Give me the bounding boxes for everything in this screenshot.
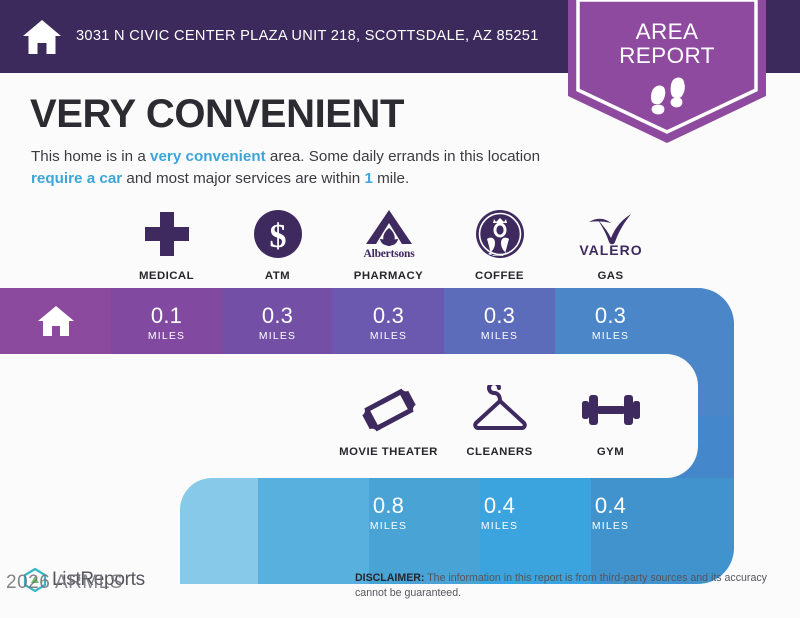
amenity-row-top: MEDICAL $ ATM Albertsons PHARMACY (111, 206, 666, 282)
amenity-pharmacy: Albertsons PHARMACY (333, 206, 444, 282)
starbucks-icon (464, 206, 536, 261)
medical-cross-icon (131, 206, 203, 261)
movie-ticket-icon (353, 382, 425, 437)
home-icon (22, 17, 62, 57)
summary-highlight-3: 1 (364, 170, 372, 187)
amenity-label: GYM (597, 446, 624, 458)
valero-icon: VALERO (575, 206, 647, 261)
property-address: 3031 N CIVIC CENTER PLAZA UNIT 218, SCOT… (76, 27, 539, 47)
hanger-icon (464, 382, 536, 437)
svg-text:$: $ (269, 218, 286, 255)
summary-highlight-1: very convenient (150, 148, 266, 165)
ribbon-top-segments (0, 288, 734, 354)
disclaimer-label: DISCLAIMER: (355, 572, 424, 584)
amenity-label: PHARMACY (354, 270, 423, 282)
summary-highlight-2: require a car (31, 170, 122, 187)
albertsons-icon: Albertsons (353, 206, 425, 261)
amenity-gym: GYM (555, 382, 666, 458)
summary-part-3: and most major services are within (122, 170, 364, 187)
summary-text: This home is in a very convenient area. … (31, 146, 571, 189)
amenity-movie-theater: MOVIE THEATER (333, 382, 444, 458)
amenity-coffee: COFFEE (444, 206, 555, 282)
amenity-label: MEDICAL (139, 270, 194, 282)
summary-part-4: mile. (373, 170, 409, 187)
summary-part-1: This home is in a (31, 148, 150, 165)
svg-text:Albertsons: Albertsons (363, 248, 415, 260)
amenity-label: CLEANERS (466, 446, 532, 458)
amenity-atm: $ ATM (222, 206, 333, 282)
area-report-badge: AREA REPORT (568, 0, 766, 143)
svg-text:VALERO: VALERO (579, 242, 642, 258)
amenity-label: COFFEE (475, 270, 524, 282)
page-title: VERY CONVENIENT (30, 92, 404, 137)
dumbbell-icon (575, 382, 647, 437)
dollar-circle-icon: $ (242, 206, 314, 261)
amenity-cleaners: CLEANERS (444, 382, 555, 458)
amenity-medical: MEDICAL (111, 206, 222, 282)
watermark: 2026 ARMLS (6, 572, 123, 594)
amenity-label: ATM (265, 270, 290, 282)
amenity-label: GAS (597, 270, 623, 282)
disclaimer: DISCLAIMER: The information in this repo… (355, 571, 780, 601)
amenity-label: MOVIE THEATER (339, 446, 438, 458)
amenity-gas: VALERO GAS (555, 206, 666, 282)
summary-part-2: area. Some daily errands in this locatio… (266, 148, 540, 165)
amenity-row-bottom: MOVIE THEATER CLEANERS GYM (333, 382, 666, 458)
